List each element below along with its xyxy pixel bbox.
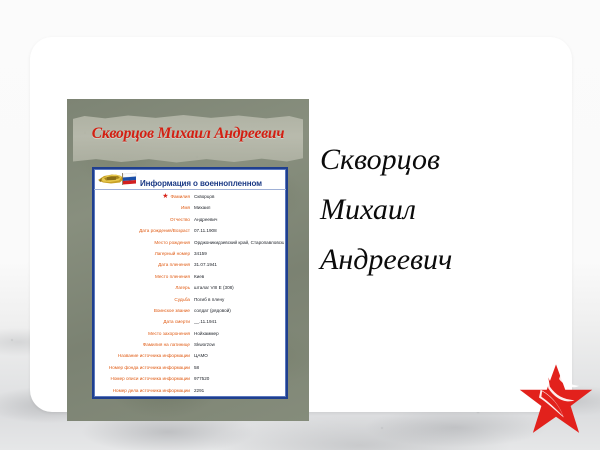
obd-row: Дата пленения31.07.1941 (94, 259, 286, 270)
obd-rows: ★ФамилияСкворцовИмяМихаилОтчествоАндреев… (94, 191, 286, 395)
content-card: Скворцов Михаил Андреевич (30, 37, 572, 412)
obd-row-value: Погиб в плену (194, 294, 284, 305)
obd-panel-header: Информация о военнопленном (94, 169, 286, 190)
person-name-block: Скворцов Михаил Андреевич (320, 135, 570, 285)
obd-row-value: 31.07.1941 (194, 259, 284, 270)
obd-row: ИмяМихаил (94, 202, 286, 213)
obd-row: Место захороненияНойхаммер (94, 328, 286, 339)
obd-row-value: ЦАМО (194, 350, 284, 361)
slide-stage: Скворцов Михаил Андреевич (0, 0, 600, 450)
obd-row-label: Отчество (94, 214, 194, 225)
obd-row: Лагерьшталаг VIII E (308) (94, 282, 286, 293)
obd-row: Воинское званиесолдат (рядовой) (94, 305, 286, 316)
obd-row-value: солдат (рядовой) (194, 305, 284, 316)
person-firstname: Михаил (320, 185, 570, 235)
obd-row-value: Михаил (194, 202, 284, 213)
obd-row-value: Киев (194, 271, 284, 282)
red-star-logo[interactable] (517, 362, 595, 436)
obd-row-label: Дата смерти (94, 316, 194, 327)
obd-row-value: 977520 (194, 373, 284, 384)
obd-row-value: 2291 (194, 385, 284, 396)
obd-row-label: ★Фамилия (94, 191, 194, 202)
obd-row-label: Номер описи источника информации (94, 373, 194, 384)
obd-row: Номер фонда источника информации58 (94, 362, 286, 373)
obd-row: Дата смерти__.11.1941 (94, 316, 286, 327)
document-banner-title: Скворцов Михаил Андреевич (67, 125, 309, 143)
obd-row-value: Skworzow (194, 339, 284, 350)
obd-row-label: Номер фонда источника информации (94, 362, 194, 373)
obd-row-value: Нойхаммер (194, 328, 284, 339)
person-patronymic: Андреевич (320, 235, 570, 285)
obd-panel-header-title: Информация о военнопленном (140, 179, 262, 188)
obd-row: Название источника информацииЦАМО (94, 350, 286, 361)
obd-row-label: Номер дела источника информации (94, 385, 194, 396)
obd-row-label: Место захоронения (94, 328, 194, 339)
obd-row: ★ФамилияСкворцов (94, 191, 286, 202)
obd-row-value: 07.11.1908 (194, 225, 284, 236)
obd-row-value: Андреевич (194, 214, 284, 225)
obd-row-label: Судьба (94, 294, 194, 305)
obd-row-value: Скворцов (194, 191, 284, 202)
obd-row: Номер описи источника информации977520 (94, 373, 286, 384)
obd-row-label: Место пленения (94, 271, 194, 282)
obd-row-value: __.11.1941 (194, 316, 284, 327)
obd-row-label: Дата рождения/Возраст (94, 225, 194, 236)
document-image[interactable]: Скворцов Михаил Андреевич (67, 99, 309, 421)
obd-row: Дата рождения/Возраст07.11.1908 (94, 225, 286, 236)
obd-row-label: Воинское звание (94, 305, 194, 316)
obd-row-label: Место рождения (94, 237, 194, 248)
obd-row-label: Лагерь (94, 282, 194, 293)
obd-row-label: Дата пленения (94, 259, 194, 270)
obd-row: СудьбаПогиб в плену (94, 294, 286, 305)
person-surname: Скворцов (320, 135, 570, 185)
obd-row-label: Имя (94, 202, 194, 213)
obd-row-label: Лагерный номер (94, 248, 194, 259)
red-star-icon: ★ (162, 193, 170, 200)
obd-record-panel: Информация о военнопленном ★ФамилияСквор… (92, 167, 288, 399)
obd-row-label: Название источника информации (94, 350, 194, 361)
obd-row: Место плененияКиев (94, 271, 286, 282)
obd-row: Фамилия на латиницеSkworzow (94, 339, 286, 350)
obd-emblem-icon (97, 170, 137, 186)
obd-row: Место рожденияОрджоникидзевский край, Ст… (94, 237, 286, 248)
obd-row: Номер дела источника информации2291 (94, 385, 286, 396)
obd-row-value: Орджоникидзевский край, Старопавловская (194, 237, 284, 248)
obd-row: ОтчествоАндреевич (94, 214, 286, 225)
obd-row-label: Фамилия на латинице (94, 339, 194, 350)
obd-row: Лагерный номер34159 (94, 248, 286, 259)
obd-row-value: 34159 (194, 248, 284, 259)
obd-row-value: 58 (194, 362, 284, 373)
obd-row-value: шталаг VIII E (308) (194, 282, 284, 293)
